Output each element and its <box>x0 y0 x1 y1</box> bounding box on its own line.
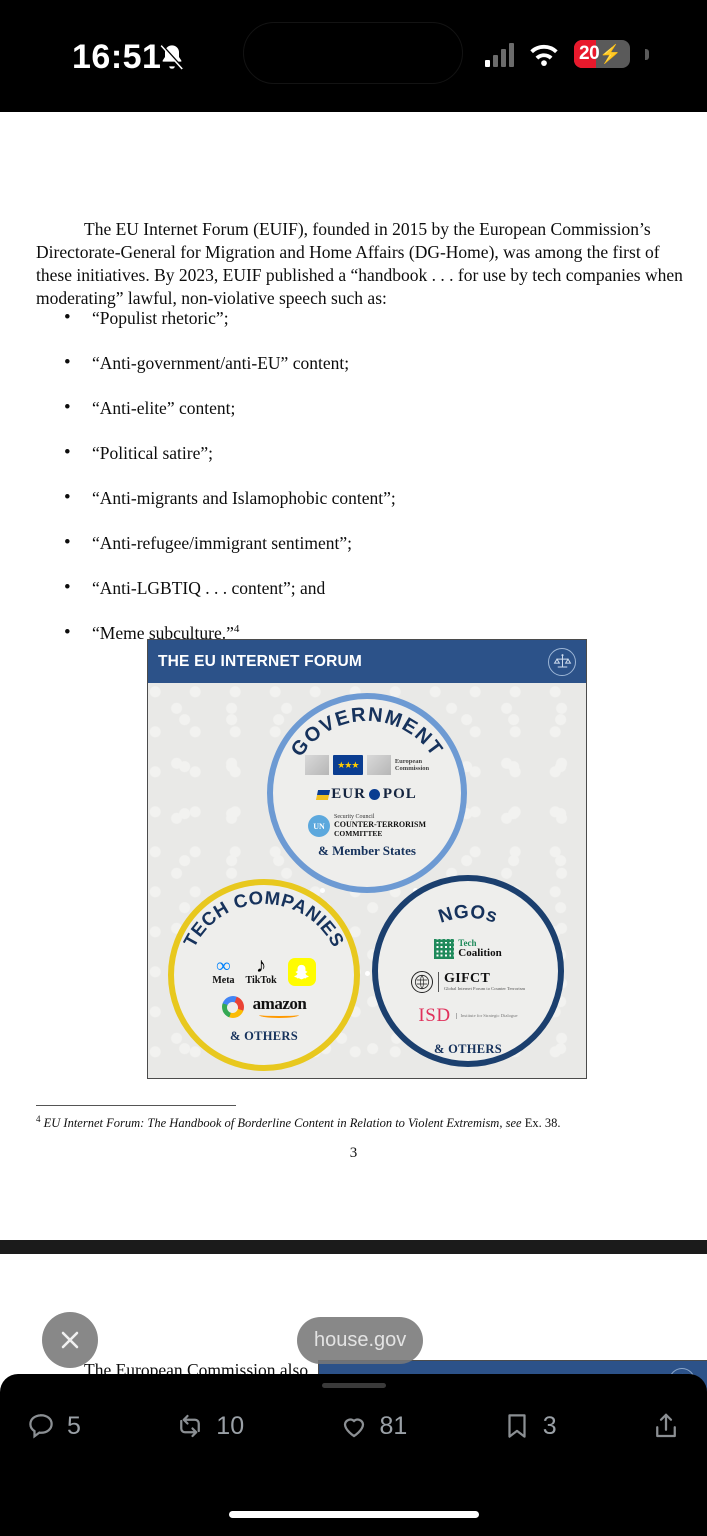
like-icon <box>339 1411 369 1441</box>
amazon-label: amazon <box>253 996 307 1011</box>
reply-count: 5 <box>67 1412 81 1441</box>
page-paragraph: The EU Internet Forum (EUIF), founded in… <box>36 218 688 310</box>
meta-infinity-icon: ∞ <box>216 958 230 974</box>
europol-logo: EUR POL <box>317 786 417 803</box>
list-item: “Anti-LGBTIQ . . . content”; and <box>60 578 660 599</box>
like-count: 81 <box>380 1412 408 1441</box>
figure-header: THE EU INTERNET FORUM <box>148 640 586 683</box>
battery-level: 20 <box>574 43 599 65</box>
status-time: 16:51 <box>72 38 161 77</box>
share-button[interactable] <box>651 1411 681 1441</box>
svg-text:NGOs: NGOs <box>436 902 500 928</box>
commission-building-icon <box>367 755 391 775</box>
google-logo-icon <box>222 996 244 1018</box>
cellular-signal-icon <box>485 41 514 67</box>
bookmark-button[interactable]: 3 <box>502 1411 557 1441</box>
close-button[interactable] <box>42 1312 98 1368</box>
share-icon <box>651 1411 681 1441</box>
document-page-3[interactable]: The EU Internet Forum (EUIF), founded in… <box>0 112 707 1240</box>
tech-coalition-line-2: Coalition <box>458 948 501 960</box>
tech-logo-row-2: amazon <box>222 996 307 1018</box>
gifct-sub-label: Global Internet Forum to Counter Terrori… <box>444 987 525 992</box>
europol-flag-icon <box>316 790 330 800</box>
ec-line-2: Commission <box>395 765 429 772</box>
repost-icon <box>175 1411 205 1441</box>
tiktok-label: TikTok <box>246 975 277 986</box>
tech-coalition-logo: Tech Coalition <box>434 939 501 960</box>
wifi-icon <box>528 41 560 67</box>
government-footer: & Member States <box>318 843 416 859</box>
repost-button[interactable]: 10 <box>175 1411 244 1441</box>
tweet-action-bar: 5 10 81 3 <box>0 1374 707 1536</box>
bookmark-icon <box>502 1411 532 1441</box>
svg-text:TECH COMPANIES: TECH COMPANIES <box>179 887 349 951</box>
un-ctc-logo: UN Security Council COUNTER-TERRORISM CO… <box>308 814 426 838</box>
close-icon <box>56 1326 84 1354</box>
page-number: 3 <box>0 1145 707 1162</box>
page-separator <box>0 1240 707 1254</box>
home-indicator <box>229 1511 479 1518</box>
european-commission-logo: ★★★ European Commission <box>305 755 429 775</box>
bell-slash-icon <box>158 42 186 72</box>
tech-coalition-grid-icon <box>434 939 454 959</box>
battery-indicator: 20 ⚡ <box>574 40 630 68</box>
isd-logo: ISD Institute for Strategic Dialogue <box>418 1005 517 1027</box>
circle-tech-companies[interactable]: TECH COMPANIES ∞ Meta ♪ TikTok <box>168 879 360 1071</box>
european-commission-label: European Commission <box>395 758 429 773</box>
ec-line-1: European <box>395 758 429 765</box>
list-item: “Anti-migrants and Islamophobic content”… <box>60 488 660 509</box>
status-bar: 16:51 20 ⚡ <box>0 0 707 112</box>
europol-text-1: EUR <box>331 786 366 803</box>
europol-text-2: POL <box>383 786 417 803</box>
list-item: “Anti-elite” content; <box>60 398 660 419</box>
un-emblem-icon: UN <box>308 815 330 837</box>
eu-flag-icon: ★★★ <box>333 755 363 775</box>
government-arc-text: GOVERNMENT <box>287 704 447 761</box>
isd-label: ISD <box>418 1005 450 1027</box>
list-item: “Populist rhetoric”; <box>60 308 660 329</box>
footnote-italic-text: EU Internet Forum: The Handbook of Borde… <box>44 1116 522 1130</box>
tech-arc-text: TECH COMPANIES <box>179 887 349 951</box>
gifct-logo: GIFCT Global Internet Forum to Counter T… <box>411 971 525 993</box>
footnote-rule <box>36 1105 236 1106</box>
tiktok-logo: ♪ TikTok <box>246 957 277 986</box>
paragraph-text: The EU Internet Forum (EUIF), founded in… <box>36 219 683 308</box>
tech-logo-row-1: ∞ Meta ♪ TikTok <box>212 957 315 986</box>
bookmark-count: 3 <box>543 1412 557 1441</box>
battery-cap <box>645 49 649 60</box>
footnote-tail-text: Ex. 38. <box>522 1116 561 1130</box>
circle-government[interactable]: GOVERNMENT ★★★ European Commission <box>267 693 467 893</box>
footnote-ref: 4 <box>234 623 240 635</box>
scales-of-justice-icon <box>548 648 576 676</box>
status-indicators: 20 ⚡ <box>485 40 649 68</box>
snapchat-logo <box>288 958 316 986</box>
footnote: 4 EU Internet Forum: The Handbook of Bor… <box>36 1114 676 1131</box>
gifct-label: GIFCT <box>444 972 525 987</box>
tiktok-note-icon: ♪ <box>256 957 267 974</box>
meta-label: Meta <box>212 975 234 986</box>
amazon-logo: amazon <box>253 996 307 1018</box>
figure-canvas: GOVERNMENT ★★★ European Commission <box>148 683 586 1079</box>
host-label-pill[interactable]: house.gov <box>297 1317 423 1364</box>
tech-footer: & OTHERS <box>230 1029 298 1044</box>
sheet-grabber[interactable] <box>322 1383 386 1388</box>
ngos-arc-text: NGOs <box>436 902 500 928</box>
europol-o-icon <box>369 789 380 800</box>
host-label: house.gov <box>314 1329 406 1352</box>
gifct-globe-icon <box>411 971 433 993</box>
bullet-list: “Populist rhetoric”; “Anti-government/an… <box>60 308 660 668</box>
like-button[interactable]: 81 <box>339 1411 408 1441</box>
reply-button[interactable]: 5 <box>26 1411 81 1441</box>
dynamic-island <box>243 22 463 84</box>
list-item: “Political satire”; <box>60 443 660 464</box>
svg-text:GOVERNMENT: GOVERNMENT <box>287 704 447 761</box>
circle-ngos[interactable]: NGOs Tech Coalition <box>372 875 564 1067</box>
commission-building-icon <box>305 755 329 775</box>
snapchat-ghost-icon <box>288 958 316 986</box>
repost-count: 10 <box>216 1412 244 1441</box>
list-item: “Anti-government/anti-EU” content; <box>60 353 660 374</box>
un-line-3: COMMITTEE <box>334 830 426 838</box>
ngos-footer: & OTHERS <box>434 1042 502 1057</box>
footnote-marker: 4 <box>36 1114 41 1124</box>
figure-title: THE EU INTERNET FORUM <box>158 653 362 671</box>
amazon-smile-icon <box>259 1012 299 1018</box>
meta-logo: ∞ Meta <box>212 958 234 986</box>
reply-icon <box>26 1411 56 1441</box>
charging-bolt-icon: ⚡ <box>599 44 621 65</box>
eu-internet-forum-figure[interactable]: THE EU INTERNET FORUM <box>147 639 587 1079</box>
list-item: “Anti-refugee/immigrant sentiment”; <box>60 533 660 554</box>
isd-sub-label: Institute for Strategic Dialogue <box>456 1013 518 1019</box>
